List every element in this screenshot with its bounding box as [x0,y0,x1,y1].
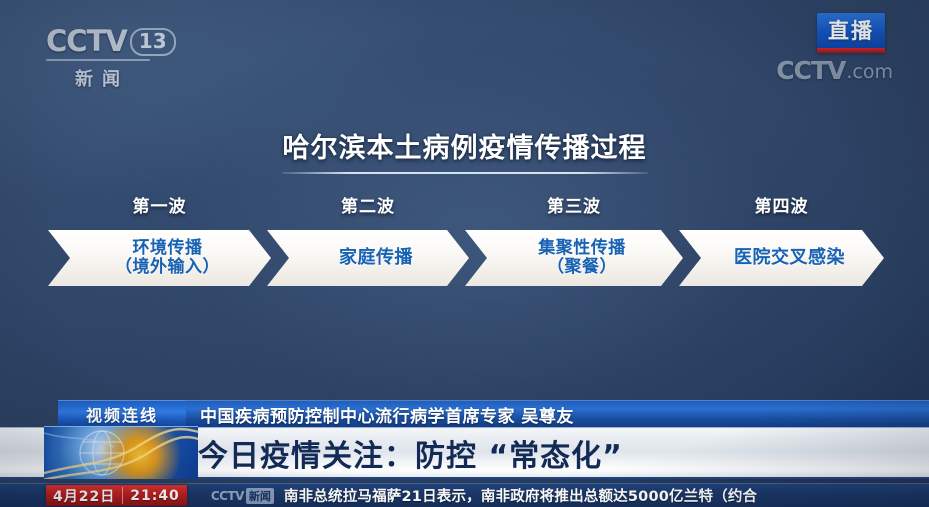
flow-step-1-line2: （境外输入） [115,258,220,277]
ticker-time: 21:40 [123,485,187,506]
wave-label-2: 第二波 [267,192,469,217]
flow-step-3-line1: 集聚性传播 [538,239,626,258]
channel-logo-row: CCTV 13 [46,27,186,56]
flow-step-1-text: 环境传播 （境外输入） [99,239,220,278]
wave-label-1: 第一波 [48,192,271,217]
diagram-title: 哈尔滨本土病例疫情传播过程 [0,126,929,174]
channel-number-badge: 13 [130,28,176,56]
diagram-title-underline [282,172,648,174]
flow-step-3: 集聚性传播 （聚餐） [465,230,683,286]
ticker-logo-cctv: CCTV [211,489,244,503]
ticker-logo-news: 新闻 [246,488,274,504]
flow-step-4-line1: 医院交叉感染 [734,248,845,269]
live-badge-accent-bar [817,48,885,53]
video-link-tag: 视频连线 [58,400,186,427]
lower-third-banner: 视频连线 中国疾病预防控制中心流行病学首席专家 吴尊友 今日疫情关注：防控 “常… [0,400,929,507]
flow-step-3-text: 集聚性传播 （聚餐） [522,239,626,278]
wave-label-3: 第三波 [465,192,683,217]
flow-step-4: 医院交叉感染 [679,230,884,286]
flow-step-4-text: 医院交叉感染 [718,248,845,269]
flow-step-3-line2: （聚餐） [538,258,626,277]
live-badge: 直播 [817,13,885,53]
live-badge-label: 直播 [817,13,885,48]
ticker-logo: CCTV 新闻 [211,488,274,504]
channel-logo-underline [46,59,150,61]
transmission-flow-diagram: 第一波 第二波 第三波 第四波 环境传播 （境外输入） 家庭传播 集聚性传播 [48,192,884,292]
watermark-cctv-text: CCTV [776,58,845,83]
channel-logo: CCTV 13 新闻 [46,27,186,91]
cctv-dotcom-watermark: CCTV .com [776,58,893,83]
lower-third-top-row: 视频连线 中国疾病预防控制中心流行病学首席专家 吴尊友 [58,400,929,427]
flow-step-1: 环境传播 （境外输入） [48,230,271,286]
wave-label-4: 第四波 [679,192,884,217]
watermark-dotcom-text: .com [846,63,893,82]
chevron-row: 环境传播 （境外输入） 家庭传播 集聚性传播 （聚餐） 医院交叉感染 [48,230,884,286]
clock-badge: 4月22日 21:40 [46,485,187,506]
ticker-headline-text: 南非总统拉马福萨21日表示，南非政府将推出总额达5000亿兰特（约合 [284,485,757,506]
guest-title-bar: 中国疾病预防控制中心流行病学首席专家 吴尊友 [186,400,929,427]
channel-subtitle: 新闻 [46,65,158,91]
flow-step-2-text: 家庭传播 [323,248,413,269]
ticker-date: 4月22日 [46,485,122,506]
flow-step-2: 家庭传播 [267,230,469,286]
flow-step-1-line1: 环境传播 [115,239,220,258]
flow-step-2-line1: 家庭传播 [339,248,413,269]
cctv-wordmark: CCTV [46,27,127,56]
diagram-title-text: 哈尔滨本土病例疫情传播过程 [283,126,647,170]
globe-arcs-icon [44,427,198,479]
broadcast-screen: CCTV 13 新闻 直播 CCTV .com 哈尔滨本土病例疫情传播过程 第一… [0,0,929,507]
news-ticker: 4月22日 21:40 CCTV 新闻 南非总统拉马福萨21日表示，南非政府将推… [0,483,929,507]
headline-text: 今日疫情关注：防控 “常态化” [198,431,623,475]
globe-graphic [44,426,198,479]
